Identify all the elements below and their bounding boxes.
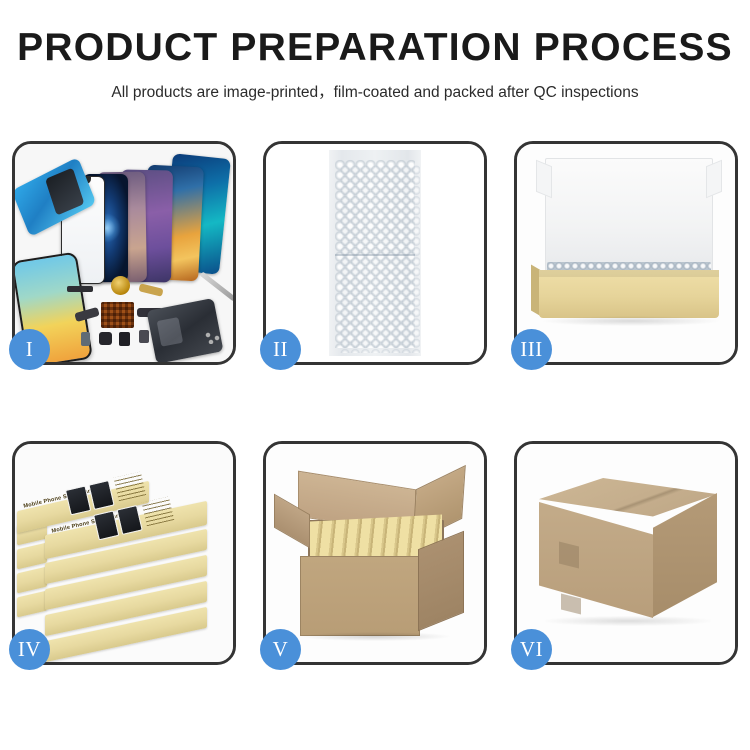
step-badge-5: V bbox=[260, 629, 301, 670]
step-image-bubble-wrap bbox=[266, 144, 484, 362]
bubble-wrap-seam bbox=[335, 254, 415, 256]
product-preparation-infographic: PRODUCT PREPARATION PROCESS All products… bbox=[0, 0, 750, 750]
box-label-screen-image-2 bbox=[116, 505, 142, 535]
connector-grid-part bbox=[101, 302, 134, 328]
copper-coil-part bbox=[111, 276, 130, 295]
spare-parts-cluster bbox=[73, 274, 233, 362]
sim-tray-part bbox=[81, 332, 90, 346]
box-label-screen-image-4 bbox=[88, 480, 114, 510]
phone-backplate-part bbox=[146, 298, 223, 362]
carton-drop-shadow bbox=[300, 632, 450, 641]
kraft-box-tray bbox=[539, 270, 719, 318]
speaker-module-part bbox=[119, 332, 130, 346]
screwdriver-tool-icon bbox=[200, 272, 233, 302]
header: PRODUCT PREPARATION PROCESS All products… bbox=[0, 0, 750, 102]
sealed-carton-left-face bbox=[539, 502, 653, 618]
step-image-sealed-carton bbox=[517, 444, 735, 662]
process-steps-grid: I II III bbox=[12, 141, 738, 665]
box-label-spec-lines-front bbox=[142, 497, 175, 527]
stacked-box-left-2 bbox=[17, 543, 47, 570]
retail-box-stack: Mobile Phone Spare Parts Mobile Phone Sp… bbox=[15, 462, 233, 652]
bubble-pattern-back bbox=[340, 165, 420, 353]
step-panel-3: III bbox=[514, 141, 738, 365]
step-panel-2: II bbox=[263, 141, 487, 365]
carton-tape-mark-upper bbox=[559, 542, 579, 569]
step-panel-4: Mobile Phone Spare Parts Mobile Phone Sp… bbox=[12, 441, 236, 665]
step-panel-5: V bbox=[263, 441, 487, 665]
box-label-spec-lines-top bbox=[113, 472, 146, 502]
flex-cable-part-a bbox=[67, 286, 93, 292]
step-badge-4: IV bbox=[9, 629, 50, 670]
bubble-wrap-strip bbox=[329, 150, 421, 356]
step-image-stacked-retail-boxes: Mobile Phone Spare Parts Mobile Phone Sp… bbox=[15, 444, 233, 662]
step-badge-3: III bbox=[511, 329, 552, 370]
screws-part bbox=[205, 332, 223, 344]
step-image-inner-box-packing bbox=[517, 144, 735, 362]
page-subtitle: All products are image-printed，film-coat… bbox=[0, 80, 750, 102]
step-badge-6: VI bbox=[511, 629, 552, 670]
camera-module-part bbox=[99, 332, 112, 345]
carton-front-face bbox=[300, 556, 420, 636]
white-box-lid bbox=[545, 158, 713, 272]
step-panel-6: VI bbox=[514, 441, 738, 665]
flex-cable-part-b bbox=[74, 307, 100, 322]
page-title: PRODUCT PREPARATION PROCESS bbox=[0, 28, 750, 69]
step-image-products-and-parts bbox=[15, 144, 233, 362]
carton-side-face bbox=[418, 531, 464, 632]
flex-cable-part-c bbox=[138, 283, 163, 297]
step-image-carton-loading bbox=[266, 444, 484, 662]
sealed-carton-drop-shadow bbox=[545, 616, 711, 626]
carton-tape-mark-lower bbox=[561, 594, 581, 615]
step-badge-2: II bbox=[260, 329, 301, 370]
box-drop-shadow bbox=[543, 316, 719, 326]
battery-connector-part bbox=[139, 330, 149, 343]
step-badge-1: I bbox=[9, 329, 50, 370]
phone-screen-fan-icon bbox=[67, 156, 232, 281]
stacked-box-left-4 bbox=[17, 591, 47, 618]
stacked-box-left-3 bbox=[17, 567, 47, 594]
step-panel-1: I bbox=[12, 141, 236, 365]
